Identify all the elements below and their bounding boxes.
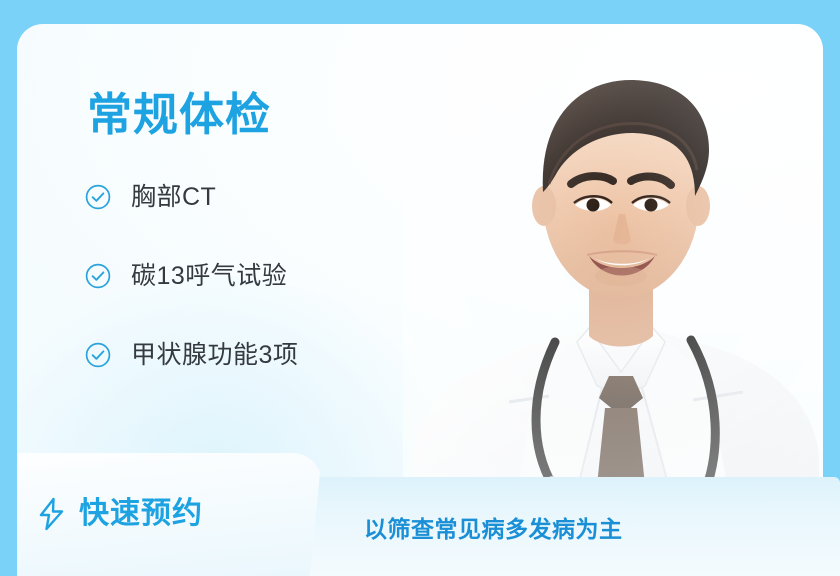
quick-booking-label: 快速预约	[79, 499, 203, 529]
description-text: 以筛查常见病多发病为主	[364, 510, 623, 544]
feature-list: 胸部CT 碳13呼气试验	[85, 175, 445, 377]
quick-booking-inner: 快速预约	[37, 497, 203, 531]
circle-check-icon	[85, 184, 111, 210]
list-item: 甲状腺功能3项	[85, 333, 445, 377]
doctor-portrait	[403, 24, 823, 524]
list-item: 胸部CT	[85, 175, 445, 219]
circle-check-icon	[85, 263, 111, 289]
card-content: 常规体检 胸部CT	[85, 92, 445, 377]
lightning-bolt-icon	[37, 497, 66, 531]
list-item: 碳13呼气试验	[85, 254, 445, 298]
list-item-label: 碳13呼气试验	[131, 264, 287, 289]
list-item-label: 甲状腺功能3项	[131, 343, 298, 368]
health-checkup-banner: 常规体检 胸部CT	[0, 0, 840, 576]
circle-check-icon	[85, 342, 111, 368]
bottom-bar: 以筛查常见病多发病为主 快速预约	[0, 453, 840, 576]
page-title: 常规体检	[87, 92, 445, 137]
list-item-label: 胸部CT	[131, 185, 216, 210]
description-panel: 以筛查常见病多发病为主	[300, 477, 840, 576]
quick-booking-button[interactable]: 快速预约	[17, 453, 322, 576]
